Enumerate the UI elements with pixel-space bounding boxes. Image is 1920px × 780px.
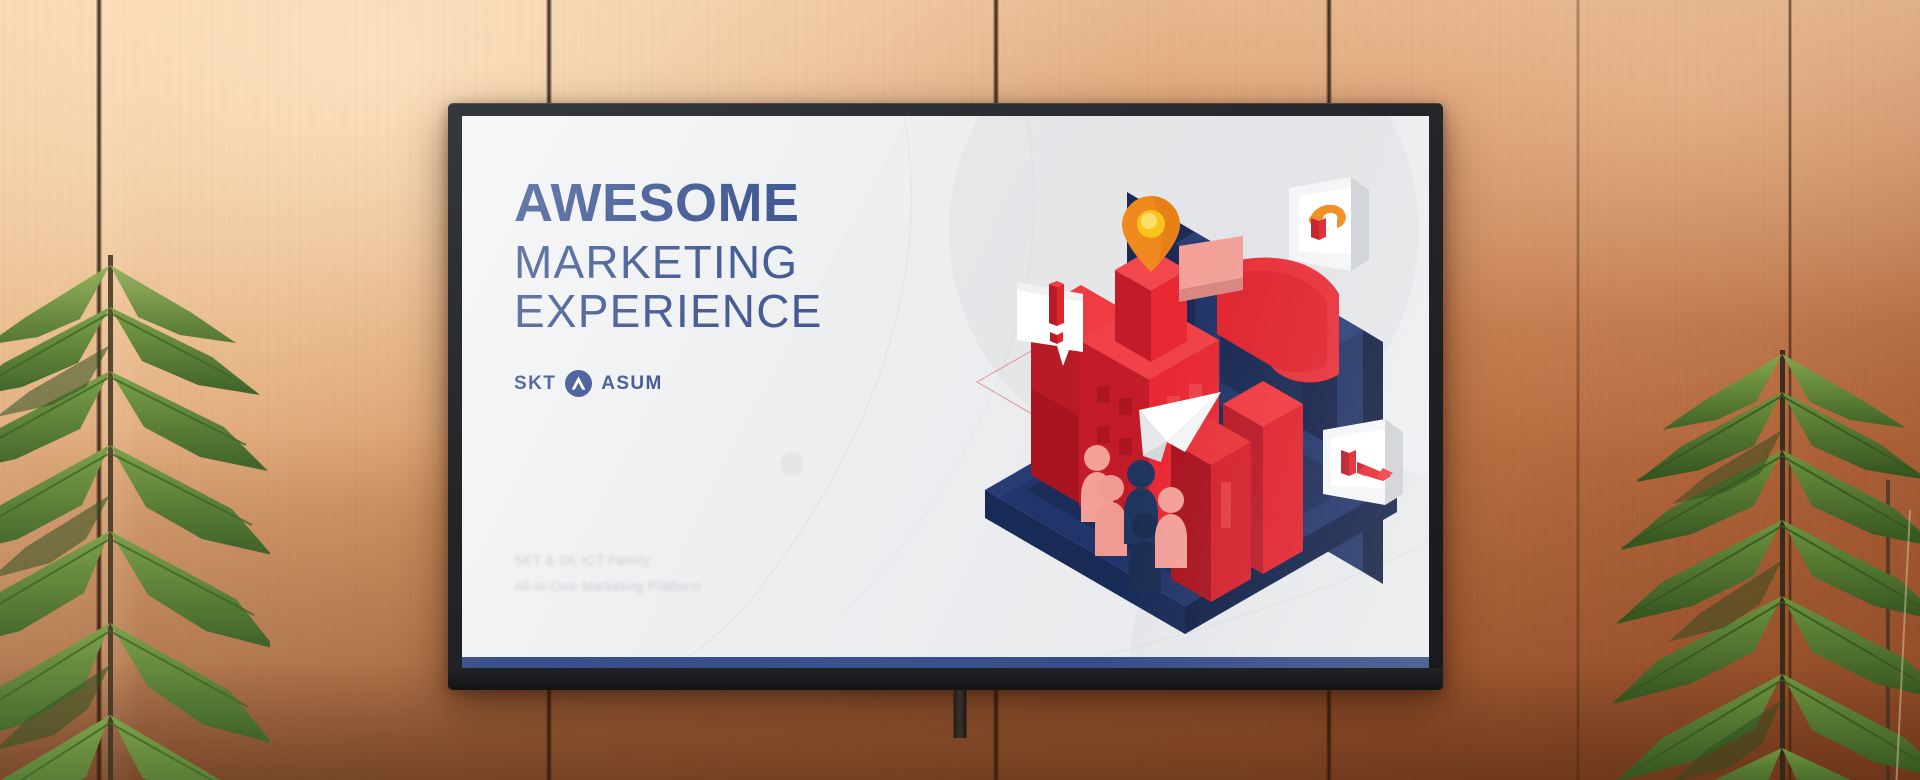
logo-text-asum: ASUM (601, 373, 663, 395)
mountain-peak-circle-icon (565, 370, 592, 397)
growth-arrow-card (1323, 419, 1403, 505)
footnote-line-1: SKT & SK ICT Family (514, 548, 701, 574)
isometric-city-marketing-illustration (971, 174, 1411, 644)
brand-logo: SKT ASUM (514, 370, 823, 397)
page-title: AWESOME (514, 176, 823, 230)
slide-footnote: SKT & SK ICT Family All-in-One Marketing… (514, 548, 701, 601)
footnote-line-2: All-in-One Marketing Platform (514, 574, 701, 600)
logo-text-skt: SKT (514, 373, 556, 395)
presentation-slide: AWESOME MARKETING EXPERIENCE SKT ASUM (462, 116, 1429, 668)
tv-screen: AWESOME MARKETING EXPERIENCE SKT ASUM (462, 116, 1429, 668)
headline-line-3: EXPERIENCE (514, 287, 823, 336)
slide-accent-bar (462, 657, 1429, 668)
headline-line-2: MARKETING (514, 238, 823, 287)
tv-wall-mount (954, 690, 967, 738)
slide-text-block: AWESOME MARKETING EXPERIENCE SKT ASUM (514, 176, 823, 397)
wall-mounted-tv: AWESOME MARKETING EXPERIENCE SKT ASUM (448, 103, 1443, 690)
room-scene: AWESOME MARKETING EXPERIENCE SKT ASUM (0, 0, 1920, 780)
tv-bottom-bezel (448, 668, 1443, 690)
megaphone-card (1289, 177, 1369, 271)
